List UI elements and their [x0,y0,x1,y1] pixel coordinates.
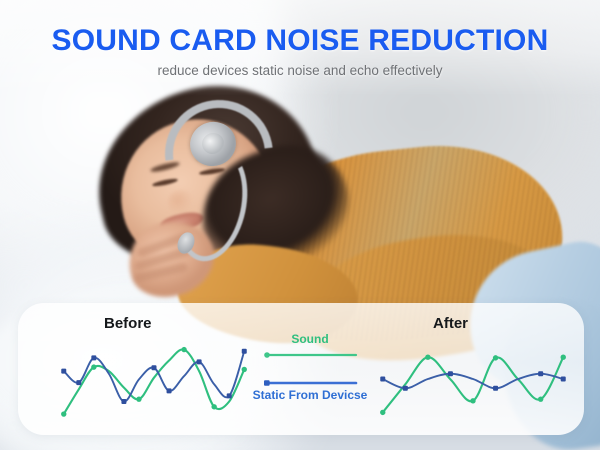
legend-static-label: Static From Devicse [250,389,370,403]
waveform-point [448,371,453,376]
waveform-point [380,410,385,415]
waveform-point [152,365,157,370]
after-waveform-svg [373,335,573,427]
waveform-point [380,377,385,382]
waveform-point [242,367,247,372]
waveform-point [211,404,216,409]
legend-sound-line [262,351,358,359]
waveform-point [91,355,96,360]
before-after-card: Before After Sound Static From Devicse [18,303,584,435]
promo-banner: SOUND CARD NOISE REDUCTION reduce device… [0,0,600,450]
waveform-line [383,374,563,389]
page-subtitle: reduce devices static noise and echo eff… [0,63,600,78]
legend-sound-label: Sound [250,333,370,347]
waveform-point [493,386,498,391]
waveform-point [167,388,172,393]
waveform-point [61,369,66,374]
before-label: Before [104,315,152,332]
legend-spacer [250,359,370,375]
waveform-point [136,396,141,401]
waveform-point [76,380,81,385]
after-label: After [433,315,468,332]
waveform-legend: Sound Static From Devicse [250,333,370,403]
waveform-point [403,386,408,391]
waveform-line [64,349,244,414]
waveform-point [181,347,186,352]
waveform-point [561,355,566,360]
waveform-point [538,396,543,401]
waveform-point [242,349,247,354]
waveform-point [91,364,96,369]
legend-static-line [262,379,358,387]
waveform-point [121,399,126,404]
waveform-line [383,357,563,412]
waveform-point [61,411,66,416]
page-title: SOUND CARD NOISE REDUCTION [0,26,600,56]
waveform-point [493,355,498,360]
waveform-point [425,355,430,360]
waveform-point [538,371,543,376]
after-waveform-chart [373,335,573,432]
waveform-point [197,359,202,364]
waveform-point [470,398,475,403]
before-waveform-svg [54,335,254,427]
waveform-point [561,377,566,382]
waveform-point [227,393,232,398]
before-waveform-chart [54,335,254,432]
